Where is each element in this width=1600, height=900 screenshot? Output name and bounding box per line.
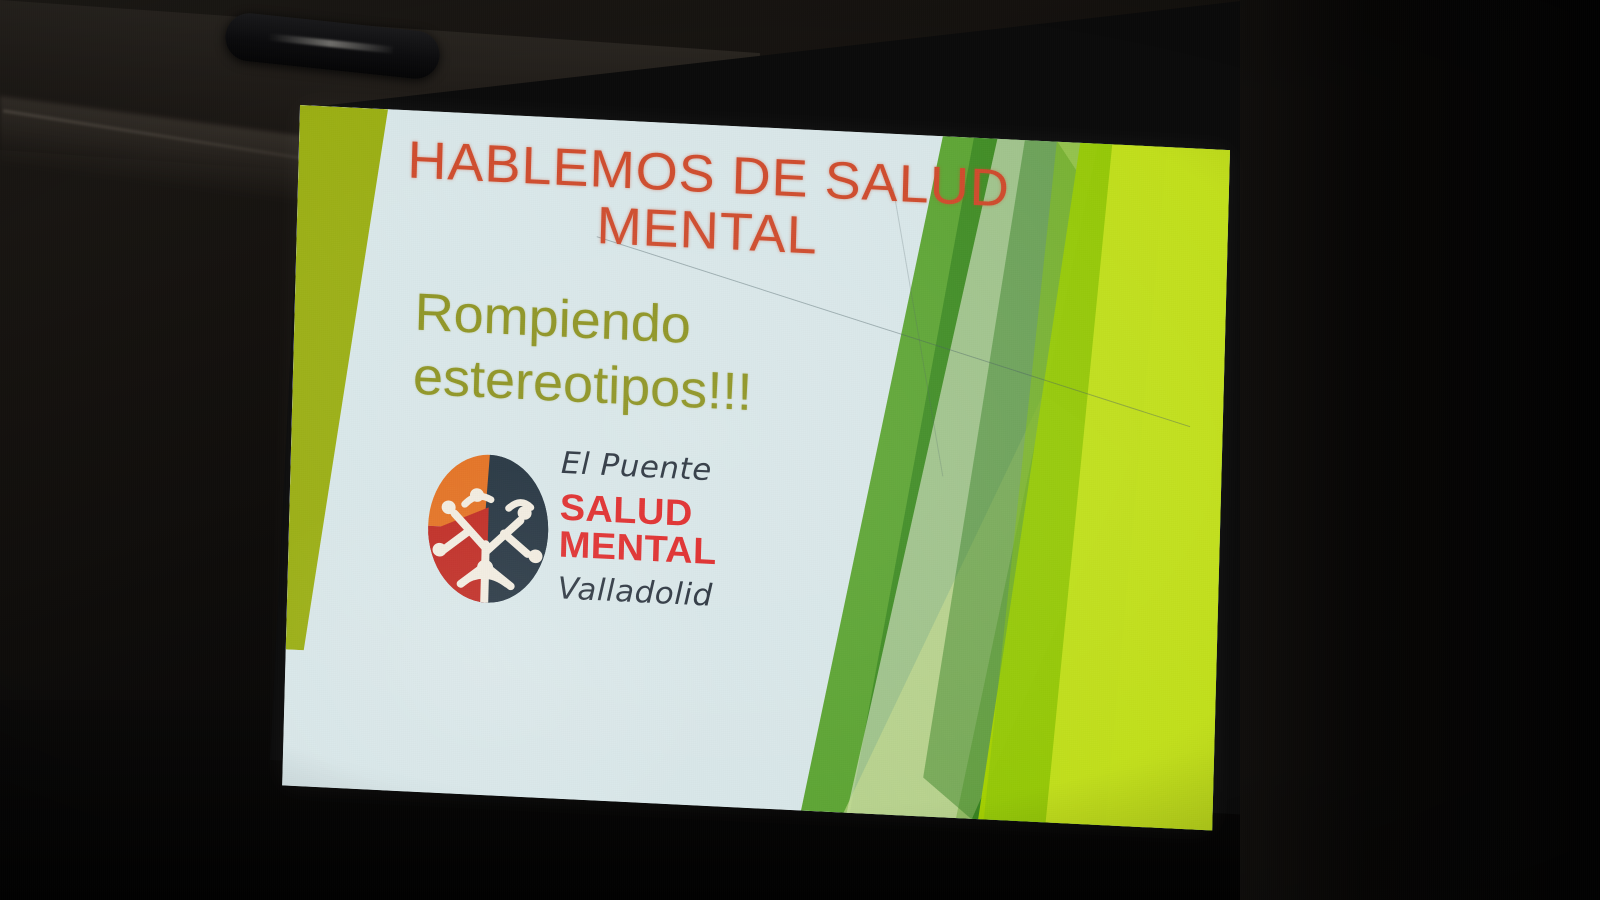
photo-scene: HABLEMOS DE SALUD MENTAL Rompiendo ester… — [0, 0, 1600, 900]
slide-canvas: HABLEMOS DE SALUD MENTAL Rompiendo ester… — [282, 105, 1230, 831]
logo-line-salud-mental: SALUD MENTAL — [558, 489, 850, 577]
logo-line-el-puente: El Puente — [561, 449, 852, 493]
el-puente-circle-figures-logo — [422, 448, 554, 610]
slide-title: HABLEMOS DE SALUD MENTAL — [386, 131, 1029, 275]
projected-slide-wrapper: HABLEMOS DE SALUD MENTAL Rompiendo ester… — [0, 0, 1600, 900]
presentation-slide: HABLEMOS DE SALUD MENTAL Rompiendo ester… — [282, 105, 1230, 831]
logo-line-valladolid: Valladolid — [557, 574, 848, 618]
logo-wordmark: El Puente SALUD MENTAL Valladolid — [557, 449, 851, 619]
slide-subtitle: Rompiendo estereotipos!!! — [412, 281, 795, 427]
organization-logo: El Puente SALUD MENTAL Valladolid — [422, 442, 857, 638]
